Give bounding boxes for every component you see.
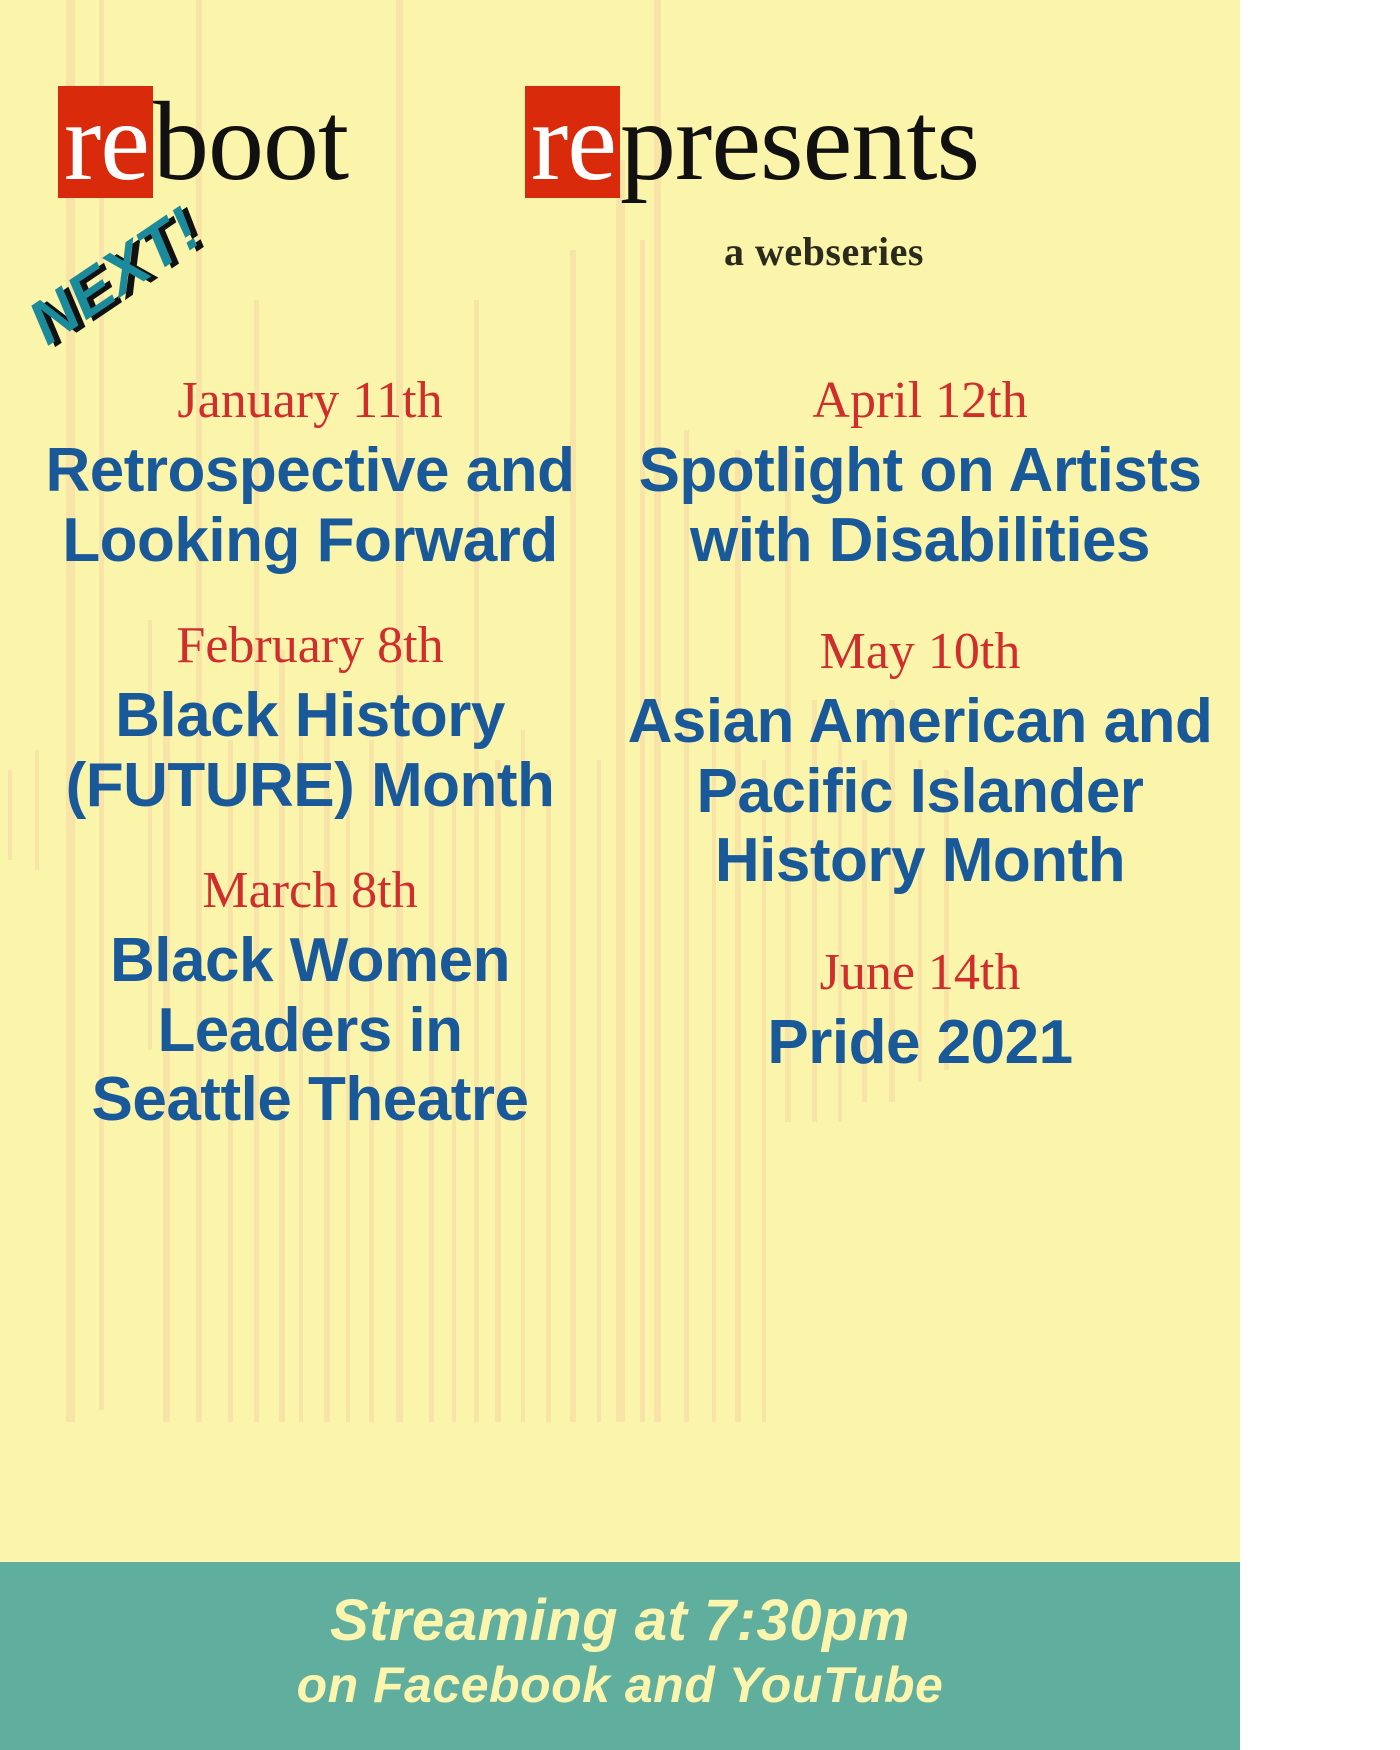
event-title-line: Retrospective and bbox=[10, 436, 610, 505]
event-item: March 8th Black Women Leaders in Seattle… bbox=[10, 862, 610, 1135]
logo-tagline: a webseries bbox=[724, 228, 924, 275]
logo-word-represents: represents bbox=[525, 86, 979, 198]
events-column-left: January 11th Retrospective and Looking F… bbox=[10, 372, 610, 1177]
event-title: Pride 2021 bbox=[620, 1008, 1220, 1077]
event-item: February 8th Black History (FUTURE) Mont… bbox=[10, 617, 610, 820]
logo-re-box-2: re bbox=[525, 86, 620, 198]
event-title-line: History Month bbox=[620, 826, 1220, 895]
event-title-line: Leaders in bbox=[10, 996, 610, 1065]
event-date: June 14th bbox=[620, 944, 1220, 1002]
event-item: January 11th Retrospective and Looking F… bbox=[10, 372, 610, 575]
event-title-line: with Disabilities bbox=[620, 506, 1220, 575]
event-title-line: Black Women bbox=[10, 926, 610, 995]
next-badge: NEXT! bbox=[16, 193, 214, 359]
event-item: April 12th Spotlight on Artists with Dis… bbox=[620, 372, 1220, 575]
footer-streaming-time: Streaming at 7:30pm bbox=[0, 1562, 1240, 1655]
event-title-line: Asian American and bbox=[620, 687, 1220, 756]
logo-word-reboot: reboot bbox=[58, 86, 348, 198]
event-date: April 12th bbox=[620, 372, 1220, 430]
logo-word-represents-rest: presents bbox=[620, 80, 979, 204]
footer-platforms: on Facebook and YouTube bbox=[0, 1655, 1240, 1715]
event-title-line: Looking Forward bbox=[10, 506, 610, 575]
logo-word-reboot-rest: boot bbox=[153, 80, 348, 204]
event-title: Asian American and Pacific Islander Hist… bbox=[620, 687, 1220, 895]
event-title: Retrospective and Looking Forward bbox=[10, 436, 610, 575]
event-item: May 10th Asian American and Pacific Isla… bbox=[620, 623, 1220, 896]
logo-re-box-1: re bbox=[58, 86, 153, 198]
event-title-line: Spotlight on Artists bbox=[620, 436, 1220, 505]
footer-banner: Streaming at 7:30pm on Facebook and YouT… bbox=[0, 1562, 1240, 1750]
event-title: Black Women Leaders in Seattle Theatre bbox=[10, 926, 610, 1134]
event-title-line: Pacific Islander bbox=[620, 757, 1220, 826]
event-title-line: Black History bbox=[10, 681, 610, 750]
event-title: Spotlight on Artists with Disabilities bbox=[620, 436, 1220, 575]
logo-lockup: reboot represents bbox=[0, 86, 1240, 216]
poster-canvas: reboot represents a webseries NEXT! Janu… bbox=[0, 0, 1240, 1750]
event-title: Black History (FUTURE) Month bbox=[10, 681, 610, 820]
event-date: May 10th bbox=[620, 623, 1220, 681]
event-item: June 14th Pride 2021 bbox=[620, 944, 1220, 1078]
event-date: February 8th bbox=[10, 617, 610, 675]
events-column-right: April 12th Spotlight on Artists with Dis… bbox=[620, 372, 1220, 1125]
event-title-line: Pride 2021 bbox=[620, 1008, 1220, 1077]
event-title-line: Seattle Theatre bbox=[10, 1065, 610, 1134]
event-date: January 11th bbox=[10, 372, 610, 430]
event-title-line: (FUTURE) Month bbox=[10, 751, 610, 820]
event-date: March 8th bbox=[10, 862, 610, 920]
